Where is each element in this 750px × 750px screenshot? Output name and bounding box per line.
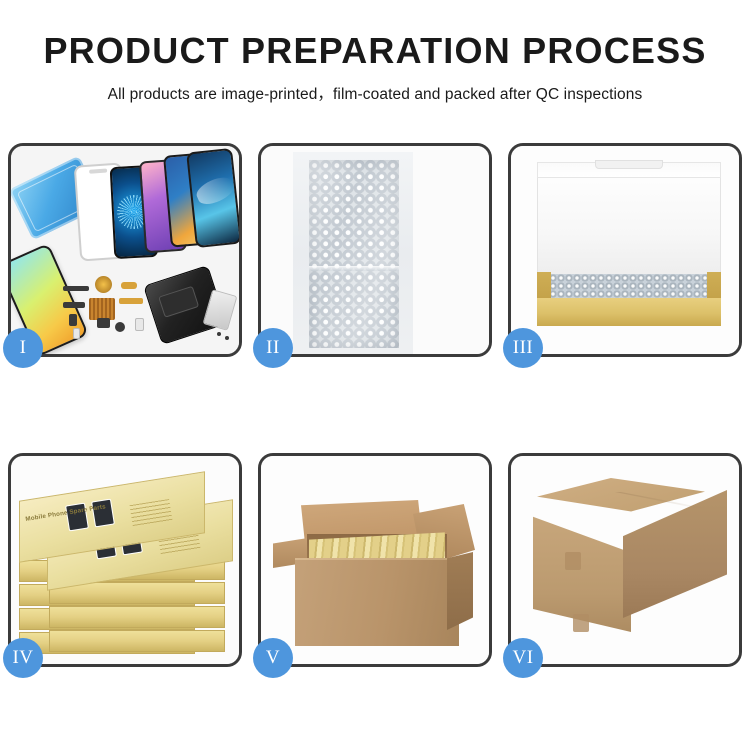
part-connector-board xyxy=(89,298,115,320)
part-flex-cable-long xyxy=(119,298,143,304)
box-stack: Mobile Phone Spare Parts Mobile Phone Sp… xyxy=(19,480,233,656)
step-card-2[interactable]: II xyxy=(258,143,492,357)
stacked-box-5b xyxy=(49,630,225,652)
part-bracket xyxy=(135,318,144,331)
step-badge-1: I xyxy=(3,328,43,368)
step-card-1[interactable]: I xyxy=(8,143,242,357)
step-badge-5: V xyxy=(253,638,293,678)
product-preparation-infographic: PRODUCT PREPARATION PROCESS All products… xyxy=(0,0,750,750)
step-image-sealed-carton xyxy=(511,456,739,664)
steps-grid: I II III xyxy=(8,143,742,743)
step-card-3[interactable]: III xyxy=(508,143,742,357)
carton-side-panel xyxy=(447,552,473,630)
inner-box-front-panel xyxy=(537,298,721,326)
step-image-inner-box xyxy=(511,146,739,354)
step-image-bubble-wrap xyxy=(261,146,489,354)
step-card-4[interactable]: Mobile Phone Spare Parts Mobile Phone Sp… xyxy=(8,453,242,667)
part-antenna-strip xyxy=(63,302,85,308)
inner-box-lid-notch xyxy=(595,160,663,169)
part-screw-b xyxy=(225,336,229,340)
bubble-bag-seam xyxy=(309,266,399,271)
inner-box-lid xyxy=(537,162,721,282)
part-screw-a xyxy=(217,332,221,336)
step-badge-2: II xyxy=(253,328,293,368)
step-image-products xyxy=(11,146,239,354)
step-image-carton-packing xyxy=(261,456,489,664)
stacked-box-4b xyxy=(49,606,225,628)
page-subtitle: All products are image-printed，film-coat… xyxy=(0,82,750,104)
step-badge-6: VI xyxy=(503,638,543,678)
part-speaker xyxy=(115,322,125,332)
step-image-stacked-boxes: Mobile Phone Spare Parts Mobile Phone Sp… xyxy=(11,456,239,664)
step-badge-4: IV xyxy=(3,638,43,678)
sealed-carton-handle-tab-top xyxy=(565,552,581,570)
sealed-carton-handle-tab-bottom xyxy=(573,614,589,632)
header: PRODUCT PREPARATION PROCESS All products… xyxy=(0,0,750,104)
part-earpiece-mesh xyxy=(63,286,89,291)
step-badge-3: III xyxy=(503,328,543,368)
step-card-6[interactable]: VI xyxy=(508,453,742,667)
part-flex-cable-small xyxy=(121,282,137,289)
bubble-sheet xyxy=(309,160,399,348)
inner-box-bubble-fill xyxy=(541,274,717,300)
part-camera-module xyxy=(97,318,110,328)
part-sim-tray xyxy=(73,328,80,339)
sealed-carton-left-panel xyxy=(533,504,631,632)
phone-gradient-display xyxy=(186,148,239,248)
part-vibration-coil xyxy=(95,276,112,293)
part-button-key xyxy=(69,314,77,326)
step-card-5[interactable]: V xyxy=(258,453,492,667)
carton-front-panel xyxy=(295,560,459,646)
page-title: PRODUCT PREPARATION PROCESS xyxy=(0,32,750,70)
